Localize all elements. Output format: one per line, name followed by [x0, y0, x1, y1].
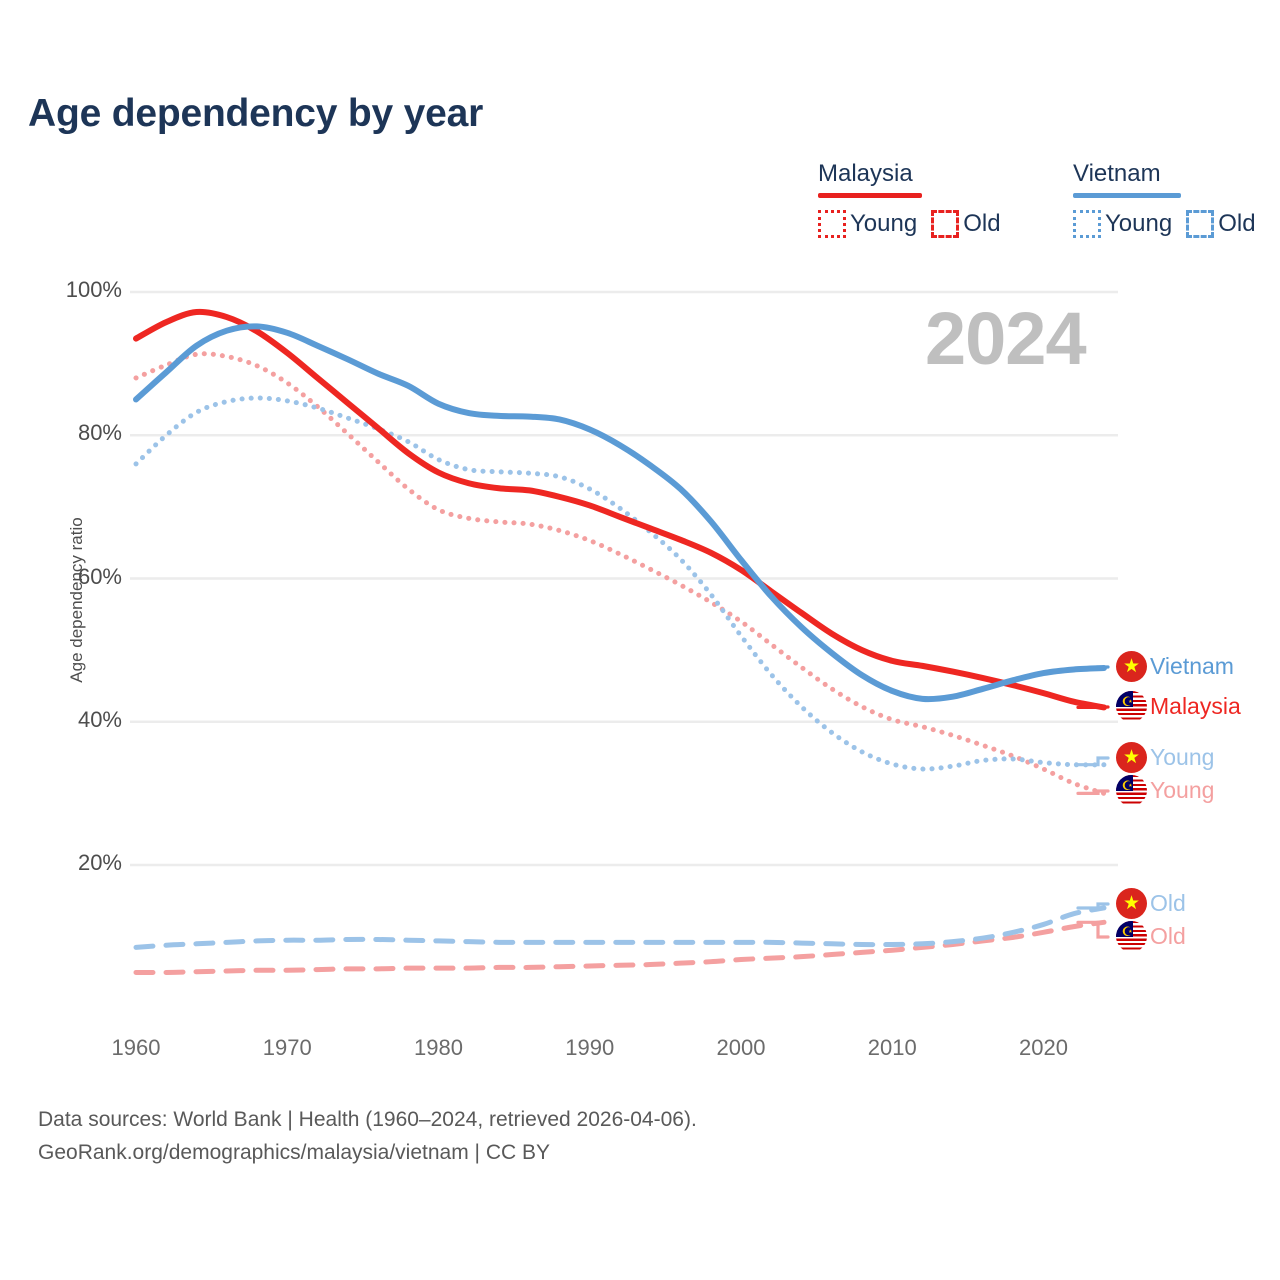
- footer-credits: Data sources: World Bank | Health (1960–…: [38, 1104, 697, 1169]
- x-tick-1960: 1960: [91, 1035, 181, 1061]
- y-tick-100%: 100%: [32, 277, 122, 303]
- end-label-vietnam-0[interactable]: ★Vietnam: [1116, 651, 1234, 682]
- end-label-old-4[interactable]: ★Old: [1116, 888, 1186, 919]
- y-tick-60%: 60%: [32, 564, 122, 590]
- malaysia-flag-icon: ☪: [1116, 921, 1147, 952]
- chart-plot-area: 2024 Age dependency ratio 20%40%60%80%10…: [0, 0, 1280, 1280]
- end-label-text: Young: [1150, 744, 1214, 771]
- end-label-young-3[interactable]: ☪Young: [1116, 775, 1214, 806]
- vietnam-flag-icon: ★: [1116, 651, 1147, 682]
- x-tick-1970: 1970: [242, 1035, 332, 1061]
- end-label-text: Old: [1150, 923, 1186, 950]
- malaysia-flag-icon: ☪: [1116, 691, 1147, 722]
- footer-line-2: GeoRank.org/demographics/malaysia/vietna…: [38, 1137, 697, 1170]
- end-label-malaysia-1[interactable]: ☪Malaysia: [1116, 691, 1241, 722]
- end-label-text: Vietnam: [1150, 653, 1234, 680]
- end-label-young-2[interactable]: ★Young: [1116, 742, 1214, 773]
- x-tick-2000: 2000: [696, 1035, 786, 1061]
- x-tick-1980: 1980: [394, 1035, 484, 1061]
- malaysia-flag-icon: ☪: [1116, 775, 1147, 806]
- end-label-text: Malaysia: [1150, 693, 1241, 720]
- y-tick-40%: 40%: [32, 707, 122, 733]
- vietnam-flag-icon: ★: [1116, 742, 1147, 773]
- chart-page: Age dependency by year Malaysia Young Ol…: [0, 0, 1280, 1280]
- y-tick-20%: 20%: [32, 850, 122, 876]
- end-label-text: Old: [1150, 890, 1186, 917]
- x-tick-1990: 1990: [545, 1035, 635, 1061]
- y-tick-80%: 80%: [32, 420, 122, 446]
- x-tick-2020: 2020: [999, 1035, 1089, 1061]
- end-label-text: Young: [1150, 777, 1214, 804]
- vietnam-flag-icon: ★: [1116, 888, 1147, 919]
- footer-line-1: Data sources: World Bank | Health (1960–…: [38, 1104, 697, 1137]
- x-tick-2010: 2010: [847, 1035, 937, 1061]
- chart-svg: [0, 0, 1280, 1280]
- end-label-old-5[interactable]: ☪Old: [1116, 921, 1186, 952]
